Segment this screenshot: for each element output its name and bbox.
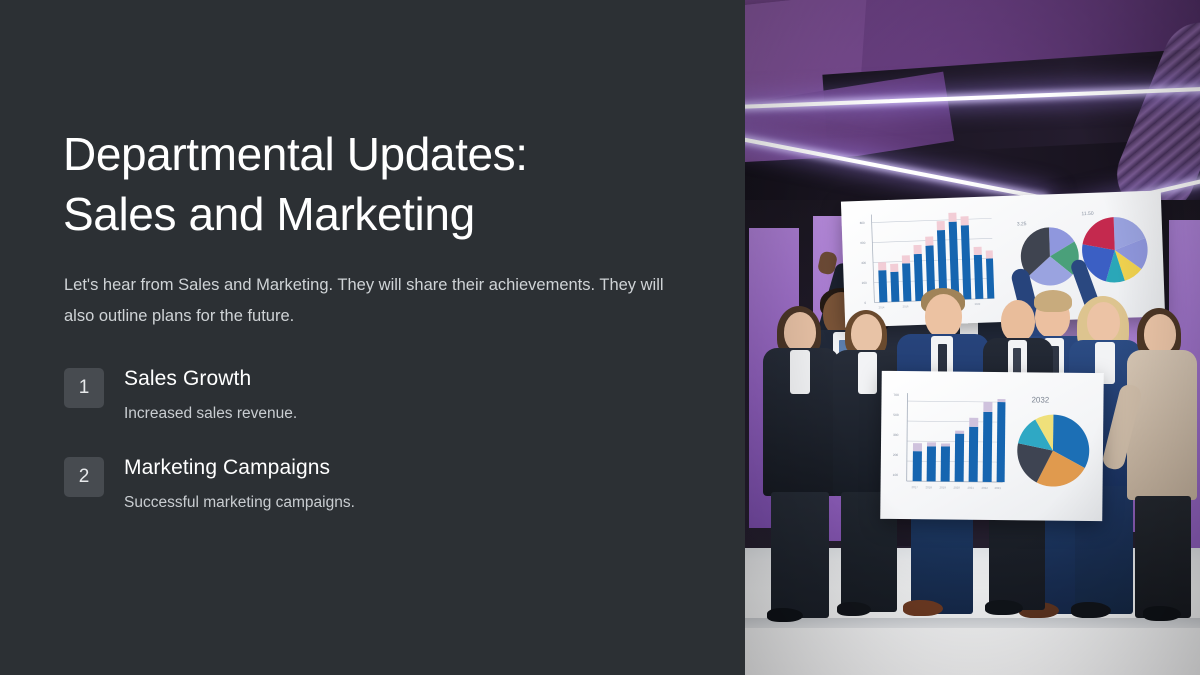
shoe [903,600,943,616]
head [1087,302,1120,342]
list-item-description: Increased sales revenue. [124,403,684,425]
svg-text:2023: 2023 [995,486,1002,490]
list-item-title: Sales Growth [124,365,684,393]
list-item-description: Successful marketing campaigns. [124,492,684,514]
lower-poster-bar-chart: 700500 300200 100 20172018 [893,393,1006,490]
shirt [858,352,877,394]
updates-list: 1 Sales Growth Increased sales revenue. … [64,365,684,543]
content-panel: Departmental Updates: Sales and Marketin… [0,0,745,675]
svg-text:0: 0 [864,301,866,305]
trousers [771,492,829,618]
lower-chart-poster: 700500 300200 100 20172018 [880,371,1104,521]
lower-pie-label: 2032 [1031,395,1049,404]
shoe [985,600,1023,615]
shoe [767,608,803,622]
svg-text:2020: 2020 [954,486,961,490]
svg-text:2017: 2017 [912,485,919,489]
upper-poster-pie-right [1081,216,1149,284]
list-item: 2 Marketing Campaigns Successful marketi… [64,454,684,514]
slide-root: Departmental Updates: Sales and Marketin… [0,0,1200,675]
shirt [790,350,810,394]
trousers [1135,496,1191,618]
list-item-body: Sales Growth Increased sales revenue. [124,365,684,425]
svg-text:700: 700 [894,393,900,397]
beige-blouse [1127,350,1197,500]
page-title: Departmental Updates: Sales and Marketin… [63,124,683,244]
lower-poster-pie [1017,414,1090,487]
list-item-title: Marketing Campaigns [124,454,684,482]
list-item-number-badge: 1 [64,368,104,408]
hair [1034,290,1072,312]
subtitle-text: Let's hear from Sales and Marketing. The… [64,270,664,332]
shoe [1071,602,1111,618]
svg-text:2019: 2019 [940,485,947,489]
pie-left-label: 3.25 [1017,221,1027,227]
svg-text:500: 500 [893,413,899,417]
svg-text:2016: 2016 [903,304,909,308]
pie-right-label: 11.50 [1081,211,1094,217]
head [851,314,882,353]
floor-step [745,618,1200,628]
head [1001,300,1035,342]
svg-text:2021: 2021 [968,486,975,490]
svg-text:2022: 2022 [974,302,980,306]
svg-text:400: 400 [861,261,866,265]
hero-photo: 800600 400200 0 [745,0,1200,675]
lower-poster-charts: 700500 300200 100 20172018 [880,371,1104,521]
svg-text:100: 100 [893,473,899,477]
svg-text:200: 200 [862,281,867,285]
svg-text:800: 800 [860,221,865,225]
svg-text:300: 300 [893,433,899,437]
shoe [1143,606,1181,621]
svg-text:2018: 2018 [926,485,933,489]
svg-text:600: 600 [860,241,865,245]
list-item-number-badge: 2 [64,457,104,497]
head [1144,314,1176,354]
list-item: 1 Sales Growth Increased sales revenue. [64,365,684,425]
list-item-body: Marketing Campaigns Successful marketing… [124,454,684,514]
svg-text:200: 200 [893,453,899,457]
head [784,312,816,352]
svg-text:2014: 2014 [879,305,885,309]
svg-text:2022: 2022 [982,486,989,490]
head [925,294,962,338]
shoe [837,602,871,616]
